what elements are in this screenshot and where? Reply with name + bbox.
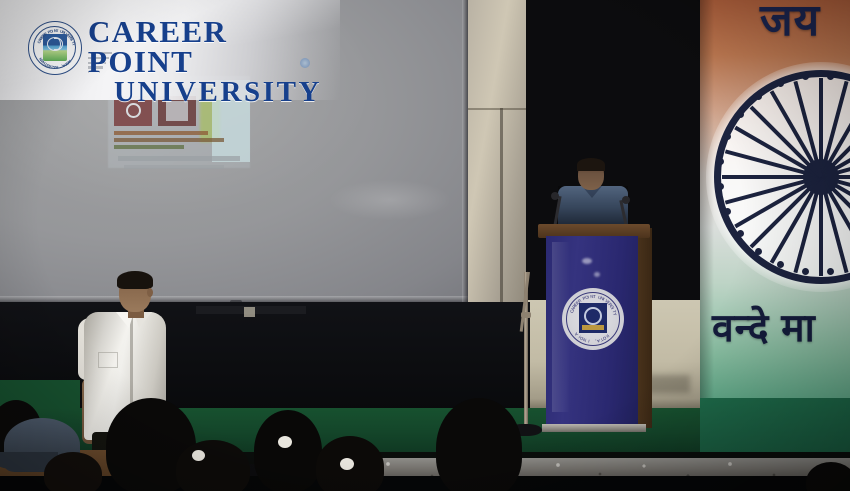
chakra-spoke (722, 175, 821, 179)
slide-text-line (114, 145, 184, 149)
audience-head (254, 410, 322, 491)
seal-ring-letter: I (588, 339, 590, 344)
audience-head (176, 440, 250, 491)
chakra-rim-nub (827, 268, 834, 275)
chakra-rim-nub (724, 133, 731, 140)
hair-clip (340, 458, 354, 470)
slide-footer-line (118, 156, 240, 161)
man-hair (117, 271, 153, 289)
university-emblem-icon: CAREER POINT UNIVERSITYKOTA, RAJASTHAN (28, 21, 82, 75)
audience-head (44, 452, 102, 491)
banner-text-vande-mataram: वन्दे मा (712, 300, 850, 350)
chakra-rim-nub (717, 158, 724, 165)
brand-title: CAREER POINT UNIVERSITY (88, 17, 328, 107)
seal-ring-letter: T (56, 28, 59, 33)
chakra-rim-nub (802, 268, 809, 275)
chakra-rim-nub (755, 93, 762, 100)
man-shirt-pocket (98, 352, 118, 368)
logo-accent-dot (300, 58, 310, 68)
man-ear (147, 288, 153, 297)
speaker-hair (577, 158, 605, 171)
podium-university-seal: CAREER POINT UNIVERSITYKOTA, INDIA (562, 288, 624, 350)
event-photo: जय वन्दे मा CAREER POINT UNIVERSITYKOTA,… (0, 0, 850, 491)
chakra-rim-nub (737, 230, 744, 237)
chakra-rim-nub (802, 73, 809, 80)
chakra-rim-nub (737, 111, 744, 118)
microphone-icon (622, 196, 630, 204)
banner-stand-joint (521, 312, 531, 318)
curtain-clip (244, 307, 255, 317)
podium-glint (582, 258, 592, 264)
slide-text-line (114, 138, 224, 142)
slide-footer-line (124, 165, 224, 169)
hair-clip (278, 436, 292, 448)
slide-text-line (114, 131, 208, 135)
pillar-seam (468, 108, 526, 110)
green-backdrop-panel (700, 398, 850, 458)
chakra-rim-nub (724, 208, 731, 215)
chakra-rim-nub (777, 80, 784, 87)
screen-smudge (330, 180, 450, 220)
seal-ring-letter: Y (71, 43, 77, 47)
hair-clip (192, 450, 205, 461)
audience-head (436, 398, 522, 491)
beige-pillar (468, 0, 526, 330)
microphone-icon (551, 192, 559, 200)
banner-text-jai: जय (760, 0, 850, 34)
chakra-rim-nub (777, 261, 784, 268)
brand-line-2: UNIVERSITY (114, 77, 328, 107)
podium-glint (594, 272, 600, 277)
seal-ring-letter: T (593, 294, 596, 299)
brand-line-1: CAREER POINT (88, 14, 227, 79)
ashoka-chakra-icon (706, 62, 850, 292)
pillar-seam (500, 108, 503, 330)
seal-ring-letter: Y (612, 312, 618, 316)
podium-base (542, 424, 646, 432)
chakra-spoke (819, 177, 823, 276)
